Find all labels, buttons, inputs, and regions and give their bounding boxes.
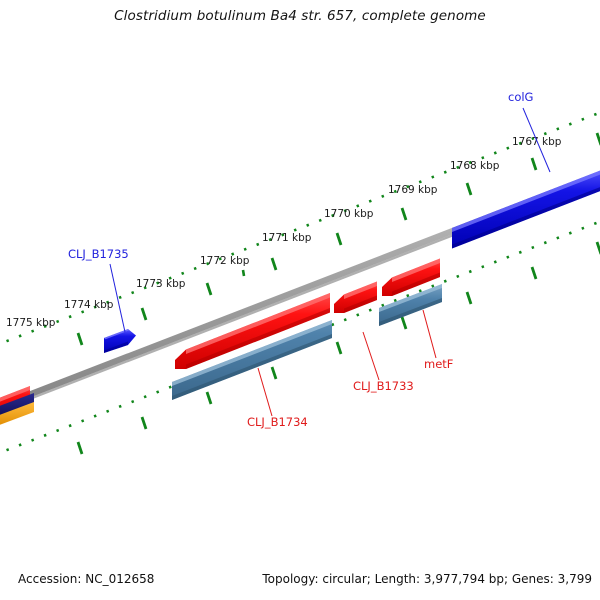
gene-name-labels[interactable]: colG CLJ_B1735 metF CLJ_B1733 CLJ_B1734: [68, 90, 533, 429]
leader-line-metf: [423, 310, 436, 358]
genome-viewer: Clostridium botulinum Ba4 str. 657, comp…: [0, 0, 600, 600]
gene-label-colg[interactable]: colG: [508, 90, 533, 104]
gene-label-clj-b1734[interactable]: CLJ_B1734: [247, 415, 308, 429]
accession-text: Accession: NC_012658: [18, 572, 154, 586]
gene-feature-clj-b1735[interactable]: [104, 329, 136, 353]
gene-label-clj-b1735[interactable]: CLJ_B1735: [68, 247, 129, 261]
gene-feature-clj-b1733[interactable]: [334, 282, 377, 314]
ruler-tick-label: 1768 kbp: [450, 160, 500, 172]
ruler-tick-label: 1769 kbp: [388, 184, 438, 196]
gene-feature-colg[interactable]: [452, 166, 600, 249]
leader-line-clj-b1734: [258, 368, 272, 416]
leader-line-clj-b1733: [363, 332, 379, 380]
ruler-tick-label: 1774 kbp: [64, 299, 114, 311]
gene-label-clj-b1733[interactable]: CLJ_B1733: [353, 379, 414, 393]
gene-label-metf[interactable]: metF: [424, 357, 453, 371]
genome-map-canvas[interactable]: 1767 kbp 1768 kbp 1769 kbp 1770 kbp 1771…: [0, 0, 600, 600]
ruler-tick-label: 1772 kbp: [200, 255, 250, 267]
ruler-tick-label: 1771 kbp: [262, 232, 312, 244]
label-leader-lines: [110, 108, 550, 416]
ruler-tick-label: 1770 kbp: [324, 208, 374, 220]
ruler-tick-label: 1775 kbp: [6, 317, 56, 329]
leader-line-clj-b1735: [110, 264, 125, 332]
ruler-tick-label: 1773 kbp: [136, 278, 186, 290]
genome-summary-text: Topology: circular; Length: 3,977,794 bp…: [262, 572, 592, 586]
genome-backbone-axis: [0, 166, 600, 414]
status-bar: Accession: NC_012658 Topology: circular;…: [0, 572, 600, 592]
